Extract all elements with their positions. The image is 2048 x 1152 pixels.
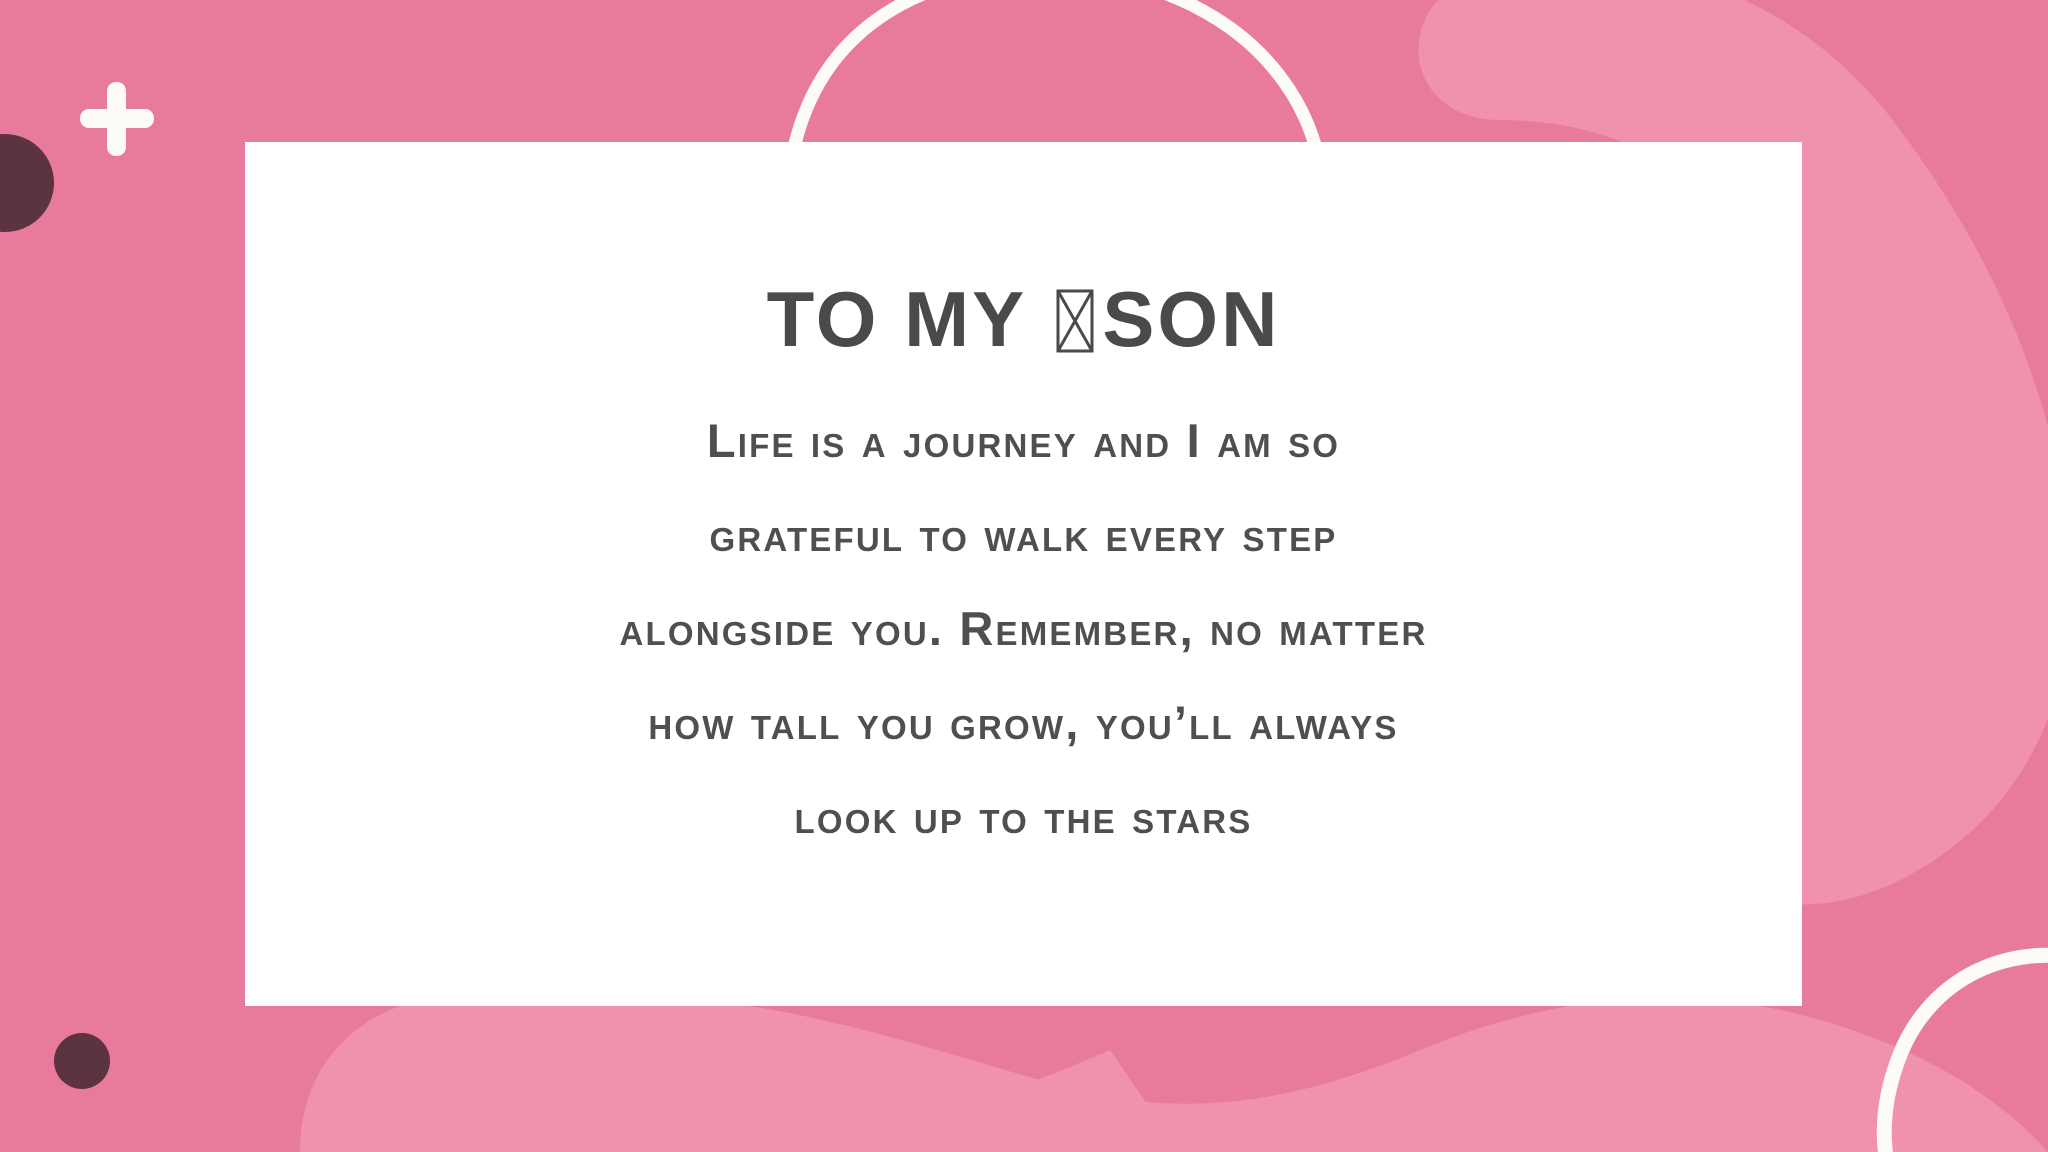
blob-bottom [340, 996, 2048, 1152]
blob-bottom-secondary [300, 990, 1180, 1152]
circle-dot-icon-bottom-left [54, 1033, 110, 1089]
quote-body-line-1: Life is a journey and I am so [341, 394, 1706, 488]
heading-text-before-glyph: TO MY [767, 280, 1051, 358]
plus-icon-vertical-bar [107, 82, 126, 156]
slide-canvas: TO MY SON Life is a journey and I am so … [0, 0, 2048, 1152]
plus-icon [80, 82, 154, 156]
quote-body-line-5: look up to the stars [341, 770, 1706, 864]
quote-body-line-3: alongside you. Remember, no matter [341, 582, 1706, 676]
tofu-missing-glyph-icon [1056, 289, 1094, 353]
quote-body-line-4: how tall you grow, you’ll always [341, 676, 1706, 770]
page-title: TO MY SON [767, 280, 1281, 358]
circle-dot-icon-top-left [0, 134, 54, 232]
heading-text-after-glyph: SON [1102, 280, 1280, 358]
quote-body-line-2: grateful to walk every step [341, 488, 1706, 582]
quote-card: TO MY SON Life is a journey and I am so … [245, 142, 1802, 1006]
curve-bottom-right [1884, 955, 2048, 1152]
curve-bottom-right-tail [1925, 1010, 2048, 1152]
quote-body: Life is a journey and I am so grateful t… [341, 394, 1706, 864]
